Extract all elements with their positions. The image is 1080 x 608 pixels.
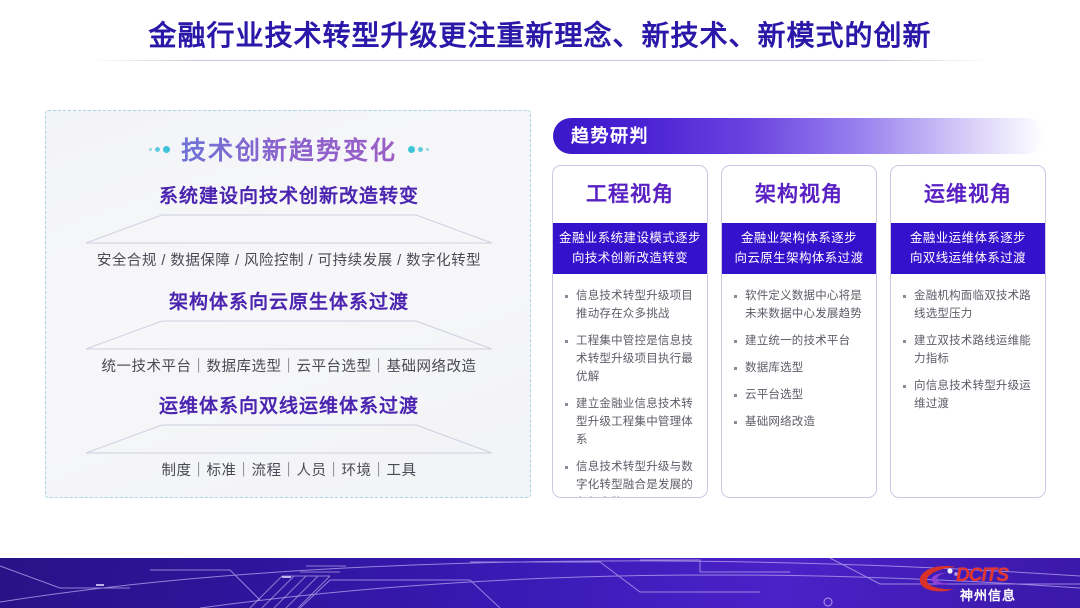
card-band-line-1: 金融业系统建设模式逐步 — [557, 228, 703, 248]
funnel-shape-3-icon — [84, 423, 494, 457]
trend-group-1-subtitle: 安全合规 / 数据保障 / 风险控制 / 可持续发展 / 数字化转型 — [46, 249, 532, 270]
trend-group-3: 运维体系向双线运维体系过渡 制度｜标准｜流程｜人员｜环境｜工具 — [46, 391, 532, 480]
list-item: 信息技术转型升级项目推动存在众多挑战 — [563, 287, 698, 323]
trend-group-3-subtitle: 制度｜标准｜流程｜人员｜环境｜工具 — [46, 459, 532, 480]
title-divider — [92, 60, 988, 61]
page-title: 金融行业技术转型升级更注重新理念、新技术、新模式的创新 — [0, 14, 1080, 54]
list-item: 建立统一的技术平台 — [732, 332, 867, 350]
logo-swoosh-icon — [916, 564, 960, 594]
logo-chinese-name: 神州信息 — [960, 585, 1016, 604]
list-item: 基础网络改造 — [732, 413, 867, 431]
trend-group-2-subtitle: 统一技术平台｜数据库选型｜云平台选型｜基础网络改造 — [46, 355, 532, 376]
perspective-card-engineering[interactable]: 工程视角 金融业系统建设模式逐步 向技术创新改造转变 信息技术转型升级项目推动存… — [552, 165, 708, 498]
card-band-line-2: 向云原生架构体系过渡 — [726, 248, 872, 268]
list-item: 工程集中管控是信息技术转型升级项目执行最优解 — [563, 332, 698, 386]
card-band: 金融业架构体系逐步 向云原生架构体系过渡 — [722, 223, 876, 274]
card-band: 金融业运维体系逐步 向双线运维体系过渡 — [891, 223, 1045, 274]
card-bullet-list: 软件定义数据中心将是未来数据中心发展趋势 建立统一的技术平台 数据库选型 云平台… — [722, 274, 876, 431]
trend-analysis-banner: 趋势研判 — [553, 118, 1045, 154]
trend-group-1: 系统建设向技术创新改造转变 安全合规 / 数据保障 / 风险控制 / 可持续发展… — [46, 181, 532, 270]
list-item: 信息技术转型升级与数字化转型融合是发展的必行之路 — [563, 458, 698, 498]
card-band-line-2: 向双线运维体系过渡 — [895, 248, 1041, 268]
dots-decoration-right-icon — [408, 146, 429, 153]
trend-group-1-title: 系统建设向技术创新改造转变 — [46, 181, 532, 208]
card-title: 工程视角 — [553, 166, 707, 223]
trend-group-2-title: 架构体系向云原生体系过渡 — [46, 287, 532, 314]
list-item: 云平台选型 — [732, 386, 867, 404]
left-panel-heading-label: 技术创新趋势变化 — [181, 131, 397, 167]
perspective-card-architecture[interactable]: 架构视角 金融业架构体系逐步 向云原生架构体系过渡 软件定义数据中心将是未来数据… — [721, 165, 877, 498]
trend-change-panel: 技术创新趋势变化 系统建设向技术创新改造转变 安全合规 / 数据保障 / 风险控… — [45, 110, 531, 498]
trend-group-2: 架构体系向云原生体系过渡 统一技术平台｜数据库选型｜云平台选型｜基础网络改造 — [46, 287, 532, 376]
trend-group-3-title: 运维体系向双线运维体系过渡 — [46, 391, 532, 418]
list-item: 建立双技术路线运维能力指标 — [901, 332, 1036, 368]
card-bullet-list: 信息技术转型升级项目推动存在众多挑战 工程集中管控是信息技术转型升级项目执行最优… — [553, 274, 707, 498]
card-title: 运维视角 — [891, 166, 1045, 223]
perspective-card-list: 工程视角 金融业系统建设模式逐步 向技术创新改造转变 信息技术转型升级项目推动存… — [552, 165, 1046, 498]
dots-decoration-left-icon — [149, 146, 170, 153]
card-band-line-2: 向技术创新改造转变 — [557, 248, 703, 268]
list-item: 向信息技术转型升级运维过渡 — [901, 377, 1036, 413]
card-bullet-list: 金融机构面临双技术路线选型压力 建立双技术路线运维能力指标 向信息技术转型升级运… — [891, 274, 1045, 413]
company-logo: DCITS 神州信息 — [916, 564, 1066, 604]
list-item: 金融机构面临双技术路线选型压力 — [901, 287, 1036, 323]
card-band-line-1: 金融业架构体系逐步 — [726, 228, 872, 248]
footer-bar: DCITS 神州信息 — [0, 558, 1080, 608]
list-item: 数据库选型 — [732, 359, 867, 377]
funnel-shape-1-icon — [84, 213, 494, 247]
perspective-card-operations[interactable]: 运维视角 金融业运维体系逐步 向双线运维体系过渡 金融机构面临双技术路线选型压力… — [890, 165, 1046, 498]
left-panel-heading: 技术创新趋势变化 — [46, 131, 532, 167]
list-item: 软件定义数据中心将是未来数据中心发展趋势 — [732, 287, 867, 323]
logo-wordmark: DCITS — [956, 565, 1008, 587]
card-band-line-1: 金融业运维体系逐步 — [895, 228, 1041, 248]
funnel-shape-2-icon — [84, 319, 494, 353]
card-band: 金融业系统建设模式逐步 向技术创新改造转变 — [553, 223, 707, 274]
card-title: 架构视角 — [722, 166, 876, 223]
trend-analysis-banner-label: 趋势研判 — [571, 118, 649, 154]
list-item: 建立金融业信息技术转型升级工程集中管理体系 — [563, 395, 698, 449]
